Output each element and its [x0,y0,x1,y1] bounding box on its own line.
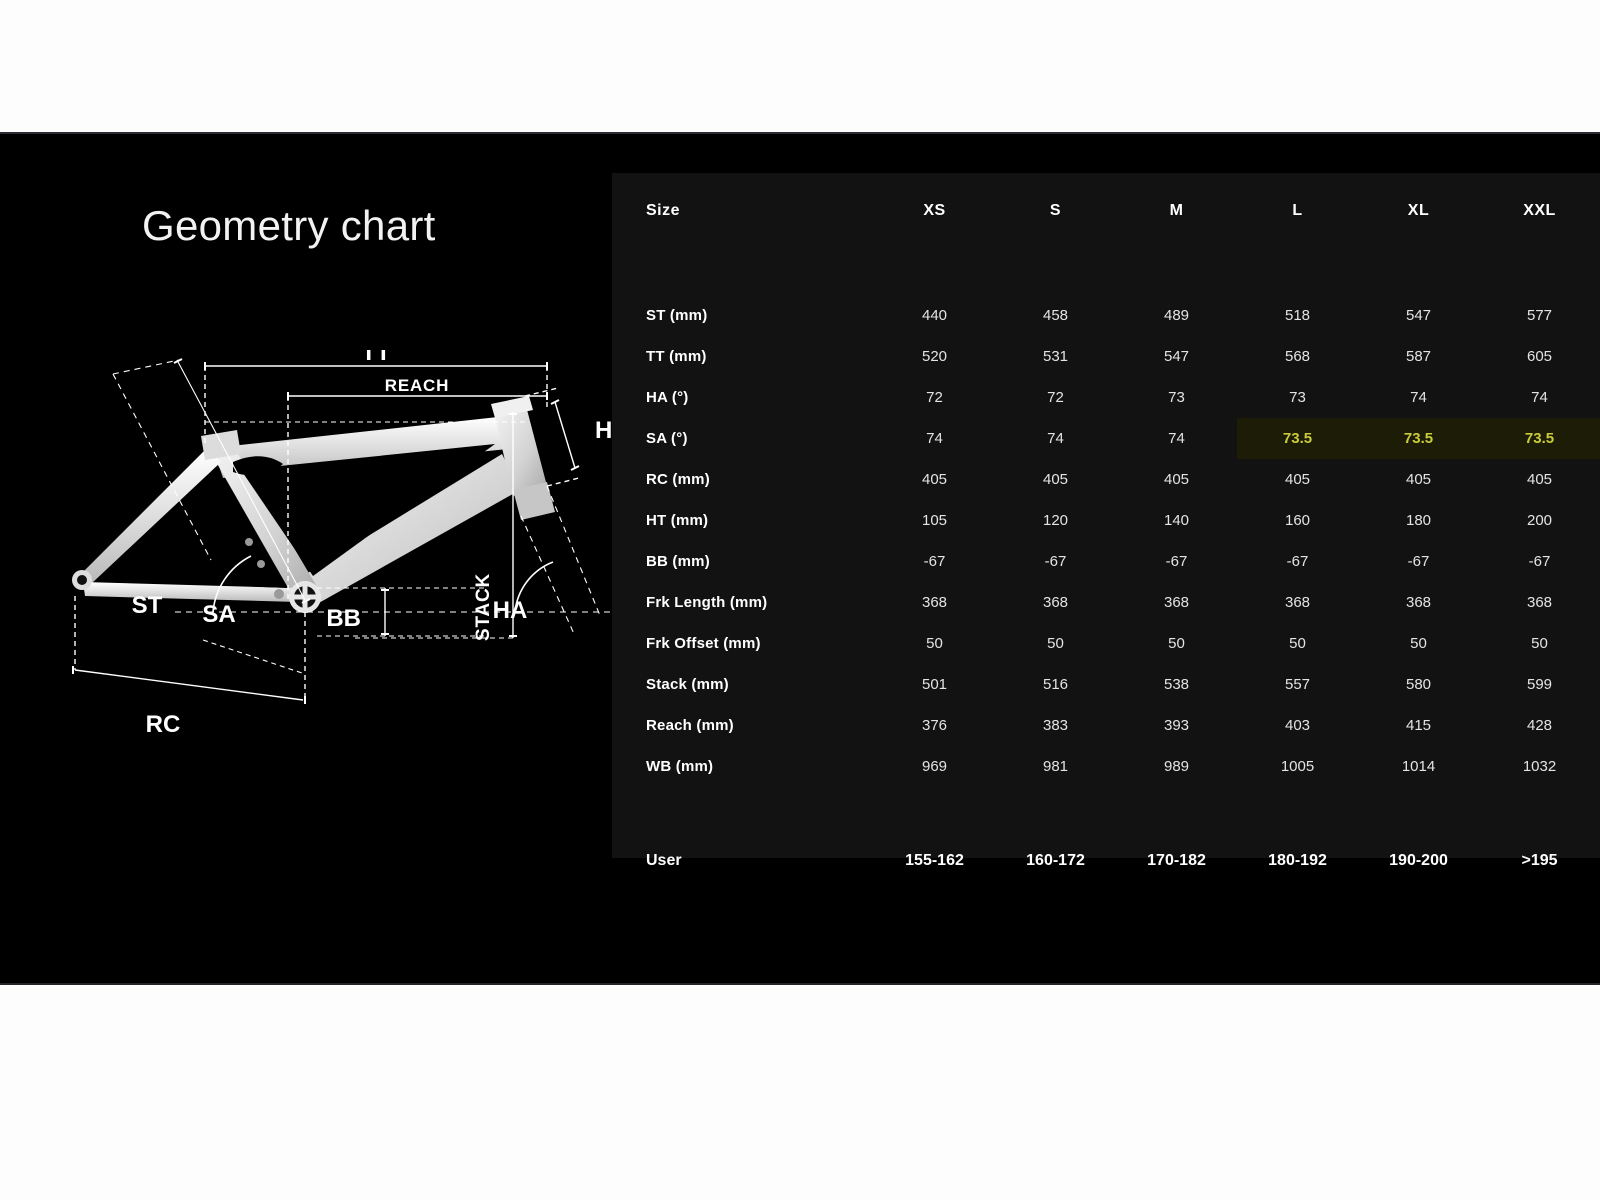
row-label-ha: HA (°) [612,377,874,418]
cell-frk-length-mm-xxl[interactable]: 368 [1479,582,1600,623]
cell-stack-mm-xl[interactable]: 580 [1358,664,1479,705]
cell-frk-offset-mm-xs[interactable]: 50 [874,623,995,664]
table-row: WB (mm)969981989100510141032 [612,746,1600,787]
cell-frk-length-mm-xs[interactable]: 368 [874,582,995,623]
cell-bb-mm-l[interactable]: -67 [1237,541,1358,582]
cell-ht-mm-xl[interactable]: 180 [1358,500,1479,541]
table-row: ST (mm)440458489518547577 [612,295,1600,336]
header-size-label: Size [612,173,874,249]
cell-user-xxl[interactable]: >195 [1479,839,1600,883]
cell-bb-mm-xxl[interactable]: -67 [1479,541,1600,582]
cell-wb-mm-xl[interactable]: 1014 [1358,746,1479,787]
cell-ha-l[interactable]: 73 [1237,377,1358,418]
row-label-reach-mm: Reach (mm) [612,705,874,746]
slide-top-edge [0,132,1600,134]
cell-stack-mm-xxl[interactable]: 599 [1479,664,1600,705]
header-size-m[interactable]: M [1116,173,1237,249]
cell-st-mm-m[interactable]: 489 [1116,295,1237,336]
cell-st-mm-s[interactable]: 458 [995,295,1116,336]
cell-tt-mm-s[interactable]: 531 [995,336,1116,377]
cell-stack-mm-xs[interactable]: 501 [874,664,995,705]
geometry-table: Size XS S M L XL XXL ST (mm)440458489518… [612,173,1600,883]
row-label-bb-mm: BB (mm) [612,541,874,582]
cell-frk-length-mm-m[interactable]: 368 [1116,582,1237,623]
table-row: Stack (mm)501516538557580599 [612,664,1600,705]
cell-user-m[interactable]: 170-182 [1116,839,1237,883]
cell-ha-xl[interactable]: 74 [1358,377,1479,418]
cell-stack-mm-l[interactable]: 557 [1237,664,1358,705]
row-label-st-mm: ST (mm) [612,295,874,336]
cell-frk-offset-mm-m[interactable]: 50 [1116,623,1237,664]
row-label-wb-mm: WB (mm) [612,746,874,787]
cell-st-mm-xl[interactable]: 547 [1358,295,1479,336]
cell-frk-length-mm-l[interactable]: 368 [1237,582,1358,623]
header-size-xs[interactable]: XS [874,173,995,249]
cell-reach-mm-xxl[interactable]: 428 [1479,705,1600,746]
table-row: SA (°)74747473.573.573.5 [612,418,1600,459]
diagram-label-stack: STACK [473,573,494,641]
cell-frk-length-mm-s[interactable]: 368 [995,582,1116,623]
header-size-l[interactable]: L [1237,173,1358,249]
table-row: HA (°)727273737474 [612,377,1600,418]
row-label-user: User [612,839,874,883]
cell-frk-offset-mm-s[interactable]: 50 [995,623,1116,664]
frame-tubes [81,396,555,604]
row-label-frk-length-mm: Frk Length (mm) [612,582,874,623]
cell-ha-m[interactable]: 73 [1116,377,1237,418]
cell-rc-mm-l[interactable]: 405 [1237,459,1358,500]
cell-st-mm-xs[interactable]: 440 [874,295,995,336]
cell-rc-mm-xs[interactable]: 405 [874,459,995,500]
cell-tt-mm-xs[interactable]: 520 [874,336,995,377]
row-label-stack-mm: Stack (mm) [612,664,874,705]
table-row: Frk Offset (mm)505050505050 [612,623,1600,664]
cell-sa-xs[interactable]: 74 [874,418,995,459]
cell-bb-mm-m[interactable]: -67 [1116,541,1237,582]
cell-sa-xl[interactable]: 73.5 [1358,418,1479,459]
geometry-table-panel: Size XS S M L XL XXL ST (mm)440458489518… [612,173,1600,858]
user-row-spacer [612,787,1600,839]
cell-bb-mm-xl[interactable]: -67 [1358,541,1479,582]
row-label-ht-mm: HT (mm) [612,500,874,541]
cell-bb-mm-s[interactable]: -67 [995,541,1116,582]
cell-reach-mm-m[interactable]: 393 [1116,705,1237,746]
cell-frk-length-mm-xl[interactable]: 368 [1358,582,1479,623]
cell-ha-s[interactable]: 72 [995,377,1116,418]
cell-frk-offset-mm-l[interactable]: 50 [1237,623,1358,664]
cell-ht-mm-m[interactable]: 140 [1116,500,1237,541]
row-label-rc-mm: RC (mm) [612,459,874,500]
cell-frk-offset-mm-xxl[interactable]: 50 [1479,623,1600,664]
cell-wb-mm-xs[interactable]: 969 [874,746,995,787]
cell-ht-mm-l[interactable]: 160 [1237,500,1358,541]
cell-tt-mm-xxl[interactable]: 605 [1479,336,1600,377]
header-size-xxl[interactable]: XXL [1479,173,1600,249]
diagram-label-ha: HA [493,597,528,624]
cell-stack-mm-s[interactable]: 516 [995,664,1116,705]
cell-tt-mm-l[interactable]: 568 [1237,336,1358,377]
diagram-label-reach: REACH [385,376,449,395]
diagram-label-st: ST [132,592,163,619]
cell-ht-mm-xxl[interactable]: 200 [1479,500,1600,541]
cell-tt-mm-xl[interactable]: 587 [1358,336,1479,377]
header-size-s[interactable]: S [995,173,1116,249]
cell-rc-mm-m[interactable]: 405 [1116,459,1237,500]
cell-reach-mm-xs[interactable]: 376 [874,705,995,746]
cell-sa-m[interactable]: 74 [1116,418,1237,459]
diagram-label-bb: BB [326,605,361,632]
bicycle-frame-geometry-diagram: TT REACH HT ST SA STACK HA BB RC [55,350,615,750]
cell-wb-mm-m[interactable]: 989 [1116,746,1237,787]
cell-st-mm-xxl[interactable]: 577 [1479,295,1600,336]
cell-bb-mm-xs[interactable]: -67 [874,541,995,582]
cell-reach-mm-l[interactable]: 403 [1237,705,1358,746]
table-row: Reach (mm)376383393403415428 [612,705,1600,746]
cell-ht-mm-s[interactable]: 120 [995,500,1116,541]
cell-ht-mm-xs[interactable]: 105 [874,500,995,541]
cell-wb-mm-xxl[interactable]: 1032 [1479,746,1600,787]
table-row: RC (mm)405405405405405405 [612,459,1600,500]
diagram-label-rc: RC [146,711,181,738]
cell-wb-mm-s[interactable]: 981 [995,746,1116,787]
cell-sa-l[interactable]: 73.5 [1237,418,1358,459]
cell-st-mm-l[interactable]: 518 [1237,295,1358,336]
cell-rc-mm-xxl[interactable]: 405 [1479,459,1600,500]
cell-user-xl[interactable]: 190-200 [1358,839,1479,883]
row-label-frk-offset-mm: Frk Offset (mm) [612,623,874,664]
row-label-sa: SA (°) [612,418,874,459]
diagram-label-tt: TT [361,350,391,366]
cell-rc-mm-xl[interactable]: 405 [1358,459,1479,500]
table-row-user: User155-162160-172170-182180-192190-200>… [612,839,1600,883]
geometry-table-body: ST (mm)440458489518547577TT (mm)52053154… [612,249,1600,883]
cell-user-l[interactable]: 180-192 [1237,839,1358,883]
cell-user-s[interactable]: 160-172 [995,839,1116,883]
bottom-bracket-icon [289,581,321,613]
cell-frk-offset-mm-xl[interactable]: 50 [1358,623,1479,664]
cell-sa-s[interactable]: 74 [995,418,1116,459]
rear-dropout-icon [72,570,92,590]
row-label-tt-mm: TT (mm) [612,336,874,377]
cell-sa-xxl[interactable]: 73.5 [1479,418,1600,459]
cell-reach-mm-s[interactable]: 383 [995,705,1116,746]
cell-wb-mm-l[interactable]: 1005 [1237,746,1358,787]
cell-reach-mm-xl[interactable]: 415 [1358,705,1479,746]
cell-tt-mm-m[interactable]: 547 [1116,336,1237,377]
cell-ha-xs[interactable]: 72 [874,377,995,418]
slide-bottom-edge [0,983,1600,985]
page-title: Geometry chart [142,202,436,250]
cell-stack-mm-m[interactable]: 538 [1116,664,1237,705]
table-row: Frk Length (mm)368368368368368368 [612,582,1600,623]
header-spacer-row [612,249,1600,295]
page-root: Geometry chart [0,0,1600,1200]
table-row: BB (mm)-67-67-67-67-67-67 [612,541,1600,582]
cell-ha-xxl[interactable]: 74 [1479,377,1600,418]
table-header-row: Size XS S M L XL XXL [612,173,1600,249]
table-row: HT (mm)105120140160180200 [612,500,1600,541]
cell-user-xs[interactable]: 155-162 [874,839,995,883]
table-row: TT (mm)520531547568587605 [612,336,1600,377]
diagram-label-sa: SA [202,601,235,628]
header-size-xl[interactable]: XL [1358,173,1479,249]
cell-rc-mm-s[interactable]: 405 [995,459,1116,500]
